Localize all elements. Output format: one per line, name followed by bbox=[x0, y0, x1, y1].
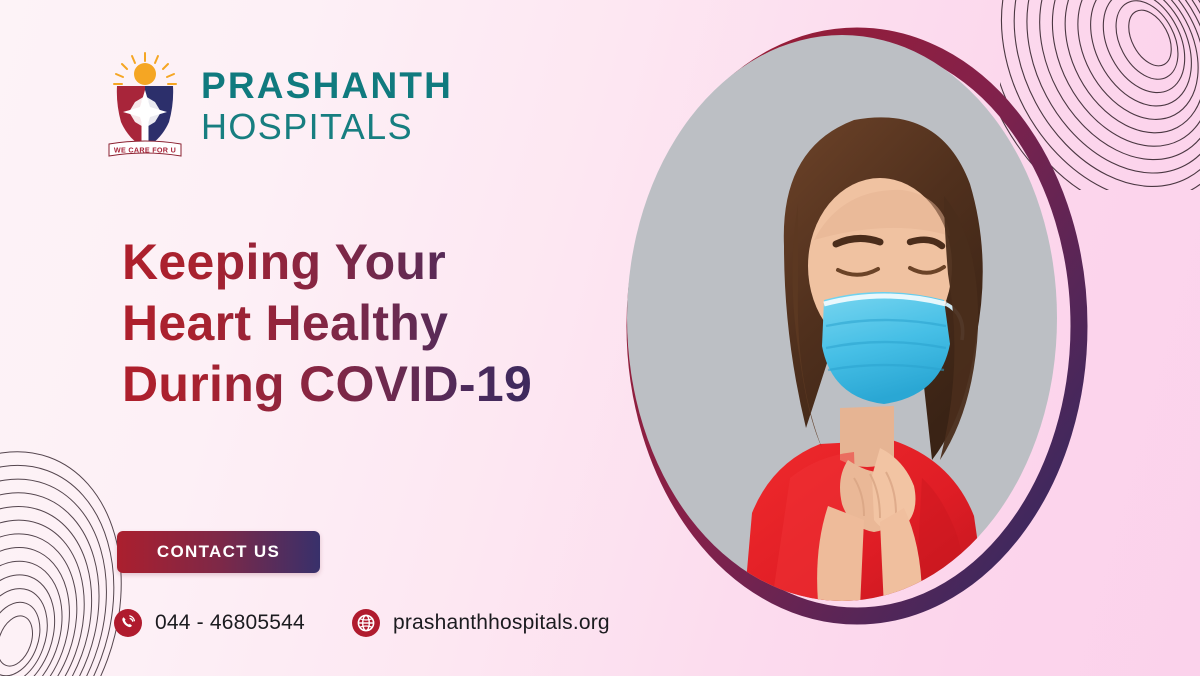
phone-call-icon bbox=[113, 608, 143, 638]
logo-tagline: WE CARE FOR U bbox=[114, 146, 176, 155]
website-contact[interactable]: prashanthhospitals.org bbox=[351, 608, 610, 638]
brand-logo[interactable]: WE CARE FOR U PRASHANTH HOSPITALS bbox=[105, 52, 453, 160]
website-url: prashanthhospitals.org bbox=[393, 611, 610, 635]
contact-us-button[interactable]: CONTACT US bbox=[117, 531, 320, 573]
contact-info-row: 044 - 46805544 prashanthhospitals.org bbox=[113, 608, 610, 638]
phone-contact[interactable]: 044 - 46805544 bbox=[113, 608, 305, 638]
globe-icon bbox=[351, 608, 381, 638]
prashanth-shield-logo-icon: WE CARE FOR U bbox=[105, 52, 185, 160]
promo-banner: WE CARE FOR U PRASHANTH HOSPITALS Keepin… bbox=[0, 0, 1200, 676]
page-title: Keeping Your Heart Healthy During COVID-… bbox=[122, 232, 552, 415]
hero-image-frame bbox=[592, 8, 1112, 668]
brand-name-primary: PRASHANTH bbox=[201, 67, 453, 104]
brand-name-secondary: HOSPITALS bbox=[201, 109, 453, 145]
phone-number: 044 - 46805544 bbox=[155, 611, 305, 635]
